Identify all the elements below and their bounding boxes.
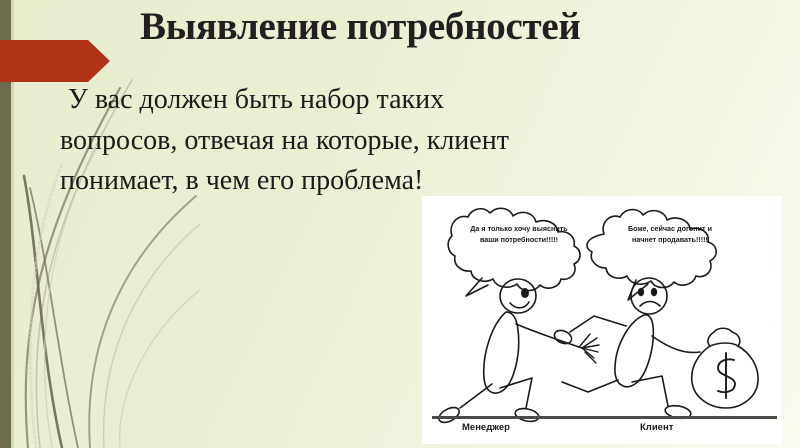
client-front-arm	[652, 336, 700, 352]
manager-arm	[516, 324, 582, 348]
caption-manager: Менеджер	[462, 422, 510, 433]
client-back-leg	[562, 380, 618, 392]
client-front-leg	[632, 376, 668, 406]
client-eye-left	[639, 289, 644, 296]
manager-back-leg	[460, 384, 492, 408]
manager-front-foot	[514, 407, 540, 424]
money-bag	[692, 328, 758, 408]
presentation-slide: Выявление потребностей У вас должен быть…	[0, 0, 800, 448]
client-frown	[640, 302, 660, 307]
manager-eye	[522, 289, 528, 297]
speech-bubble-client-text: Боже, сейчас догонит и начнет продавать!…	[604, 224, 736, 246]
red-arrow-banner	[0, 40, 110, 82]
manager-front-leg	[500, 378, 532, 408]
client-torso	[615, 315, 653, 387]
client-back-arm	[570, 316, 626, 332]
speech-bubble-client	[587, 210, 716, 288]
dollar-sign-icon	[718, 353, 735, 398]
speech-bubble-manager	[448, 208, 580, 290]
manager-hand	[580, 334, 599, 363]
slide-body-text: У вас должен быть набор таких вопросов, …	[60, 80, 520, 202]
manager-smile	[510, 302, 529, 308]
page-title: Выявление потребностей	[140, 4, 790, 50]
cartoon-illustration-panel: Да я только хочу выяснить ваши потребнос…	[422, 196, 782, 444]
manager-torso	[484, 312, 519, 393]
client-eye-right	[652, 289, 657, 296]
speech-bubble-manager-text: Да я только хочу выяснить ваши потребнос…	[454, 224, 584, 246]
manager-back-foot	[436, 405, 461, 426]
client-head	[631, 278, 667, 314]
body-line-2: вопросов, отвечая на которые, клиент	[60, 121, 520, 162]
cartoon-baseline	[432, 416, 777, 419]
caption-client: Клиент	[640, 422, 673, 433]
body-line-1: У вас должен быть набор таких	[60, 80, 520, 121]
money-bag-tie	[710, 343, 738, 346]
